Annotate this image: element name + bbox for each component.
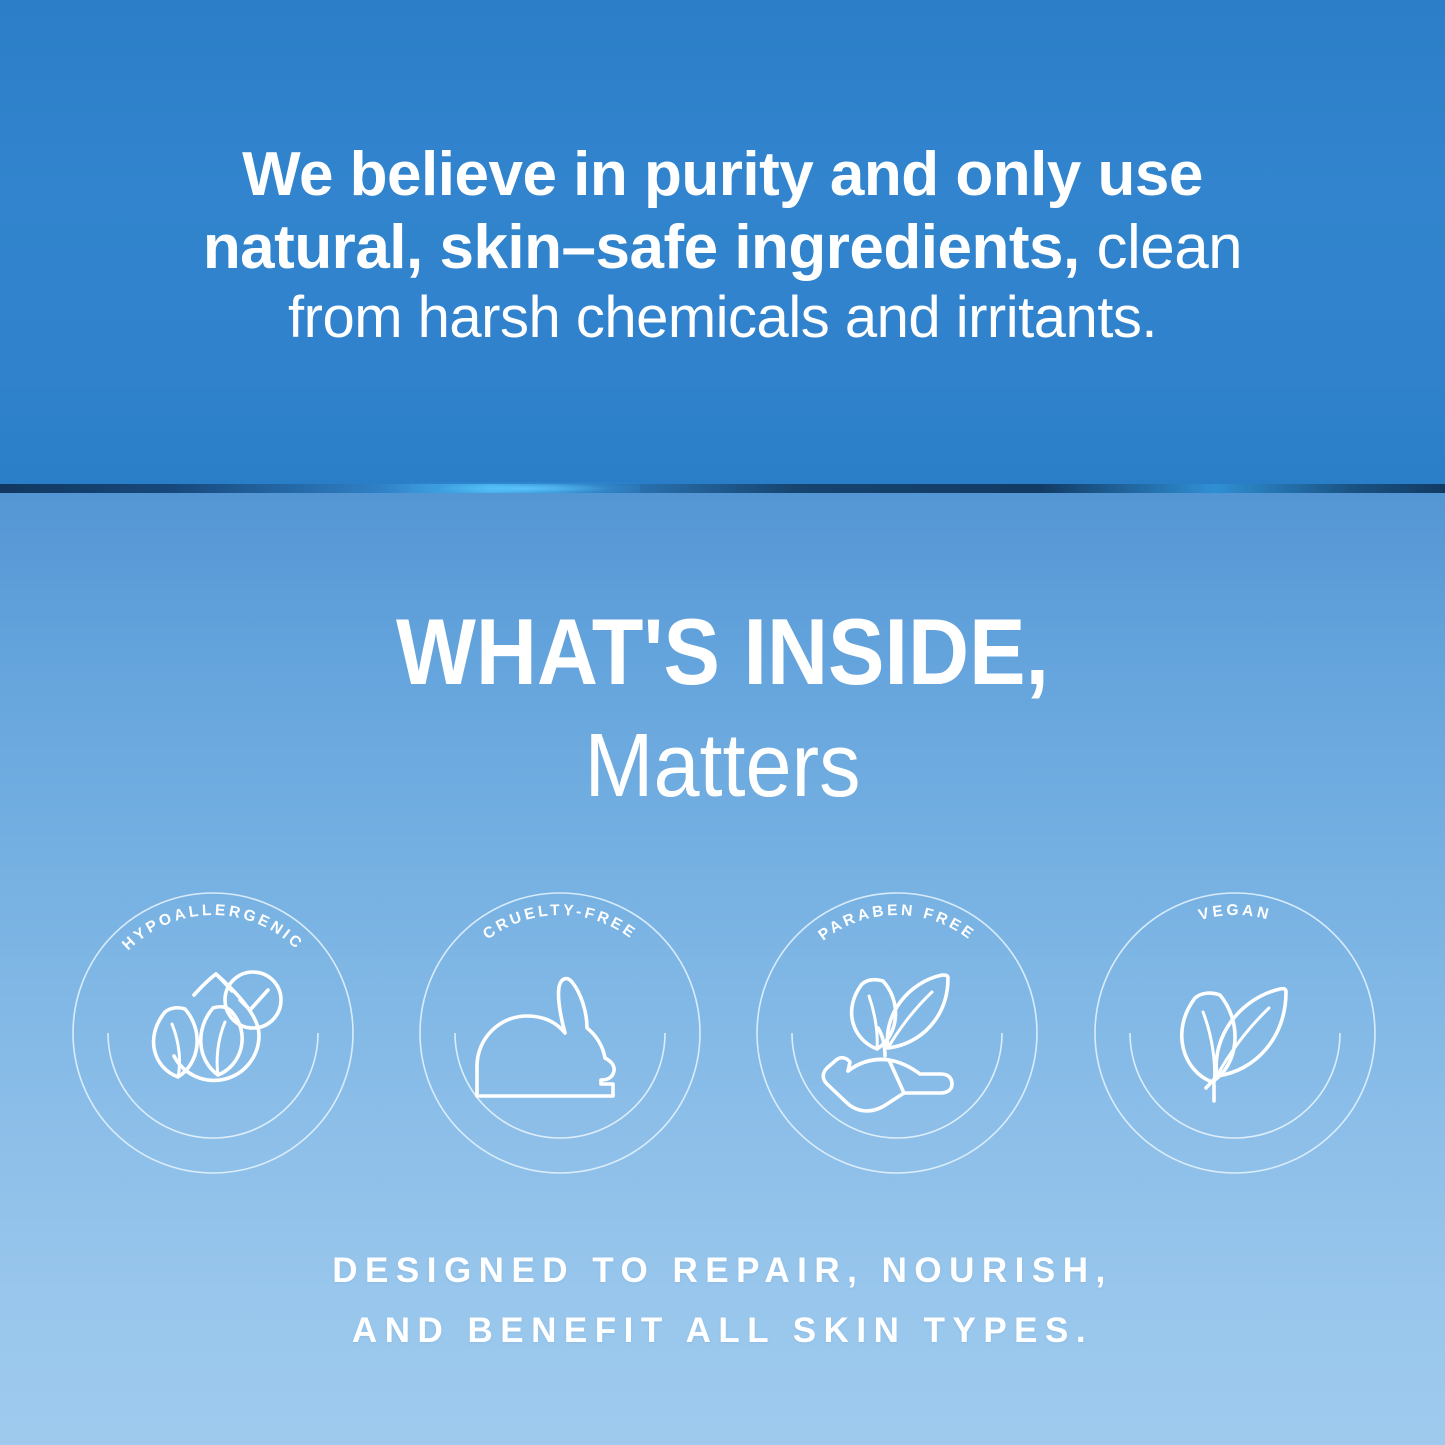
infographic-page: We believe in purity and only use natura… [0,0,1445,1445]
droplet-leaves-check-icon [154,972,281,1080]
tagline-block: DESIGNED TO REPAIR, NOURISH, AND BENEFIT… [0,1241,1445,1361]
headline-line-2-rest: clean [1080,213,1242,282]
certification-badge-row: HYPOALLERGENIC [0,888,1445,1188]
headline-line-3: from harsh chemicals and irritants. [0,284,1445,352]
headline-line-2: natural, skin–safe ingredients, clean [0,211,1445,284]
two-leaves-icon [1182,989,1286,1101]
headline-line-2-bold: natural, skin–safe ingredients, [203,213,1080,282]
whats-inside-panel: WHAT'S INSIDE, Matters HYPOALLERGENIC [0,493,1445,1445]
hand-holding-leaves-icon [823,975,952,1111]
badge-label-paraben-free: PARABEN FREE [815,902,978,944]
badge-label-vegan: VEGAN [1197,902,1273,924]
rabbit-icon [477,979,614,1096]
top-message-panel: We believe in purity and only use natura… [0,0,1445,488]
badge-hypoallergenic: HYPOALLERGENIC [68,888,358,1178]
badge-label-cruelty-free: CRUELTY-FREE [480,902,640,943]
badge-paraben-free: PARABEN FREE [752,888,1042,1178]
badge-vegan: VEGAN [1090,888,1380,1178]
headline-block: We believe in purity and only use natura… [0,138,1445,353]
section-divider [0,484,1445,493]
tagline-line-2: AND BENEFIT ALL SKIN TYPES. [0,1301,1445,1361]
tagline-line-1: DESIGNED TO REPAIR, NOURISH, [0,1241,1445,1301]
headline-line-1: We believe in purity and only use [0,138,1445,211]
section-title-main: WHAT'S INSIDE, [72,605,1373,699]
section-heading: WHAT'S INSIDE, Matters [0,605,1445,811]
badge-cruelty-free: CRUELTY-FREE [415,888,705,1178]
section-title-sub: Matters [58,721,1387,811]
